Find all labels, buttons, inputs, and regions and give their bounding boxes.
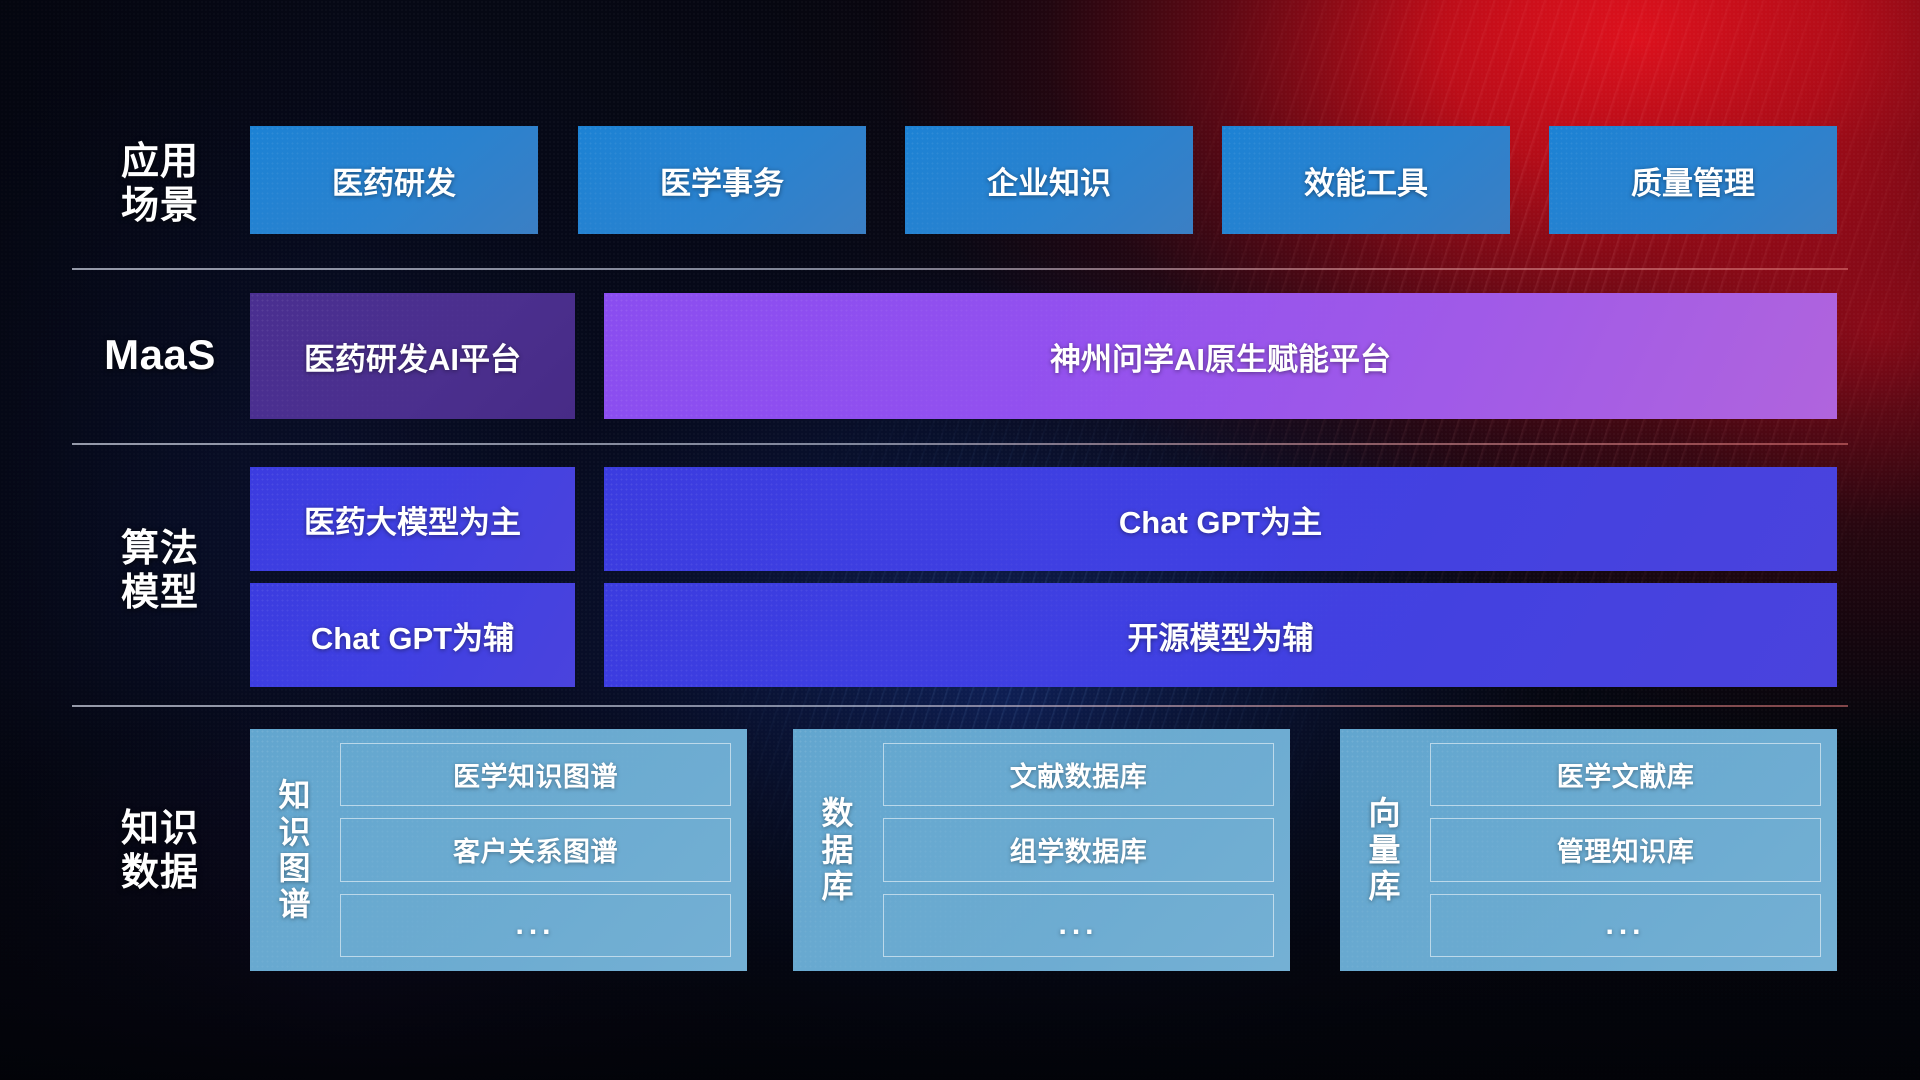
row-label-algorithm: 算法 模型 xyxy=(72,527,248,615)
maas-card-shenzhou-wenxue-platform[interactable]: 神州问学AI原生赋能平台 xyxy=(604,293,1837,419)
card-label: 效能工具 xyxy=(1304,158,1428,203)
algorithm-card-opensource-secondary[interactable]: 开源模型为辅 xyxy=(604,583,1837,687)
card-label: Chat GPT为辅 xyxy=(311,613,514,658)
knowledge-item[interactable]: 文献数据库 xyxy=(883,743,1274,806)
card-label: 医药大模型为主 xyxy=(304,497,521,542)
row-application-scenarios: 应用 场景 医药研发 医学事务 企业知识 效能工具 质量管理 xyxy=(0,126,1920,234)
row-label-application: 应用 场景 xyxy=(72,140,248,228)
application-card-efficiency-tools[interactable]: 效能工具 xyxy=(1222,126,1510,234)
knowledge-group-title: 知 识 图 谱 xyxy=(264,777,326,923)
knowledge-item[interactable]: 客户关系图谱 xyxy=(340,818,731,881)
algorithm-card-chatgpt-secondary[interactable]: Chat GPT为辅 xyxy=(250,583,575,687)
knowledge-group-items: 文献数据库 组学数据库 ... xyxy=(883,743,1274,957)
knowledge-item-more[interactable]: ... xyxy=(883,894,1274,957)
knowledge-item-more[interactable]: ... xyxy=(340,894,731,957)
knowledge-group-title: 数 据 库 xyxy=(807,795,869,904)
row-knowledge-data: 知识 数据 知 识 图 谱 医学知识图谱 客户关系图谱 ... 数 据 库 文献… xyxy=(0,729,1920,971)
row-label-knowledge: 知识 数据 xyxy=(72,807,248,895)
card-label: 神州问学AI原生赋能平台 xyxy=(1050,334,1391,379)
algorithm-card-chatgpt-primary[interactable]: Chat GPT为主 xyxy=(604,467,1837,571)
knowledge-item[interactable]: 医学知识图谱 xyxy=(340,743,731,806)
row-maas: MaaS 医药研发AI平台 神州问学AI原生赋能平台 xyxy=(0,293,1920,419)
knowledge-item-more[interactable]: ... xyxy=(1430,894,1821,957)
application-card-enterprise-knowledge[interactable]: 企业知识 xyxy=(905,126,1193,234)
application-card-drug-rnd[interactable]: 医药研发 xyxy=(250,126,538,234)
knowledge-item[interactable]: 管理知识库 xyxy=(1430,818,1821,881)
card-label: 开源模型为辅 xyxy=(1128,613,1314,658)
knowledge-item[interactable]: 医学文献库 xyxy=(1430,743,1821,806)
divider-application-maas xyxy=(72,268,1848,270)
card-label: 企业知识 xyxy=(987,158,1111,203)
row-label-maas: MaaS xyxy=(72,331,248,380)
knowledge-item[interactable]: 组学数据库 xyxy=(883,818,1274,881)
algorithm-card-pharma-llm-primary[interactable]: 医药大模型为主 xyxy=(250,467,575,571)
application-card-quality-management[interactable]: 质量管理 xyxy=(1549,126,1837,234)
diagram-stage: 应用 场景 医药研发 医学事务 企业知识 效能工具 质量管理 MaaS 医药研发… xyxy=(0,0,1920,1080)
knowledge-group-knowledge-graph[interactable]: 知 识 图 谱 医学知识图谱 客户关系图谱 ... xyxy=(250,729,747,971)
card-label: 质量管理 xyxy=(1631,158,1755,203)
knowledge-group-items: 医学知识图谱 客户关系图谱 ... xyxy=(340,743,731,957)
knowledge-group-title: 向 量 库 xyxy=(1354,795,1416,904)
maas-card-drug-rnd-ai-platform[interactable]: 医药研发AI平台 xyxy=(250,293,575,419)
card-label: 医药研发AI平台 xyxy=(304,334,521,379)
knowledge-group-database[interactable]: 数 据 库 文献数据库 组学数据库 ... xyxy=(793,729,1290,971)
divider-algorithm-knowledge xyxy=(72,705,1848,707)
row-algorithm-models: 算法 模型 医药大模型为主 Chat GPT为主 Chat GPT为辅 开源模型… xyxy=(0,467,1920,687)
application-card-medical-affairs[interactable]: 医学事务 xyxy=(578,126,866,234)
knowledge-group-items: 医学文献库 管理知识库 ... xyxy=(1430,743,1821,957)
knowledge-group-vector-store[interactable]: 向 量 库 医学文献库 管理知识库 ... xyxy=(1340,729,1837,971)
card-label: Chat GPT为主 xyxy=(1119,497,1322,542)
divider-maas-algorithm xyxy=(72,443,1848,445)
card-label: 医药研发 xyxy=(332,158,456,203)
card-label: 医学事务 xyxy=(660,158,784,203)
